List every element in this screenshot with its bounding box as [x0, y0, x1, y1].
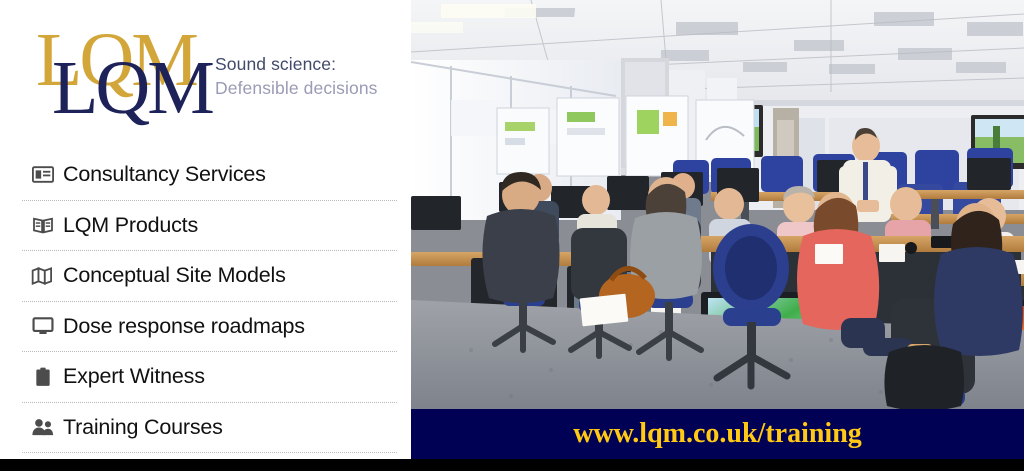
monitor-icon: [30, 315, 56, 337]
left-panel: LQM LQM Sound science: Defensible decisi…: [0, 0, 411, 460]
menu-item-training-courses[interactable]: Training Courses: [0, 403, 411, 453]
menu-item-label: Dose response roadmaps: [63, 314, 305, 339]
menu-item-label: Conceptual Site Models: [63, 263, 286, 288]
group-people-icon: [30, 416, 56, 438]
menu-item-label: Expert Witness: [63, 364, 205, 389]
url-banner[interactable]: www.lqm.co.uk/training: [411, 409, 1024, 459]
services-menu: Consultancy Services LQM Products: [0, 150, 411, 453]
menu-item-label: Consultancy Services: [63, 162, 266, 187]
clipboard-icon: [30, 366, 56, 388]
training-room-photo: [411, 0, 1024, 409]
contact-card-icon: [30, 164, 56, 186]
logo-mark: LQM LQM: [30, 22, 210, 122]
logo-wordmark-navy: LQM: [52, 50, 212, 126]
menu-item-consultancy-services[interactable]: Consultancy Services: [0, 150, 411, 200]
tagline-line-1: Sound science:: [215, 52, 405, 76]
tagline-line-2: Defensible decisions: [215, 76, 405, 100]
menu-item-label: Training Courses: [63, 415, 223, 440]
menu-item-dose-response-roadmaps[interactable]: Dose response roadmaps: [0, 302, 411, 352]
banner-url-text: www.lqm.co.uk/training: [573, 418, 862, 450]
menu-separator: [22, 452, 397, 453]
menu-item-label: LQM Products: [63, 213, 198, 238]
brand-tagline: Sound science: Defensible decisions: [215, 52, 405, 100]
slide-canvas: LQM LQM Sound science: Defensible decisi…: [0, 0, 1024, 471]
bottom-black-strip: [0, 459, 1024, 471]
lqm-logo[interactable]: LQM LQM Sound science: Defensible decisi…: [0, 0, 411, 128]
menu-item-conceptual-site-models[interactable]: Conceptual Site Models: [0, 251, 411, 301]
open-book-icon: [30, 214, 56, 236]
menu-item-expert-witness[interactable]: Expert Witness: [0, 352, 411, 402]
menu-item-lqm-products[interactable]: LQM Products: [0, 201, 411, 251]
folded-map-icon: [30, 265, 56, 287]
